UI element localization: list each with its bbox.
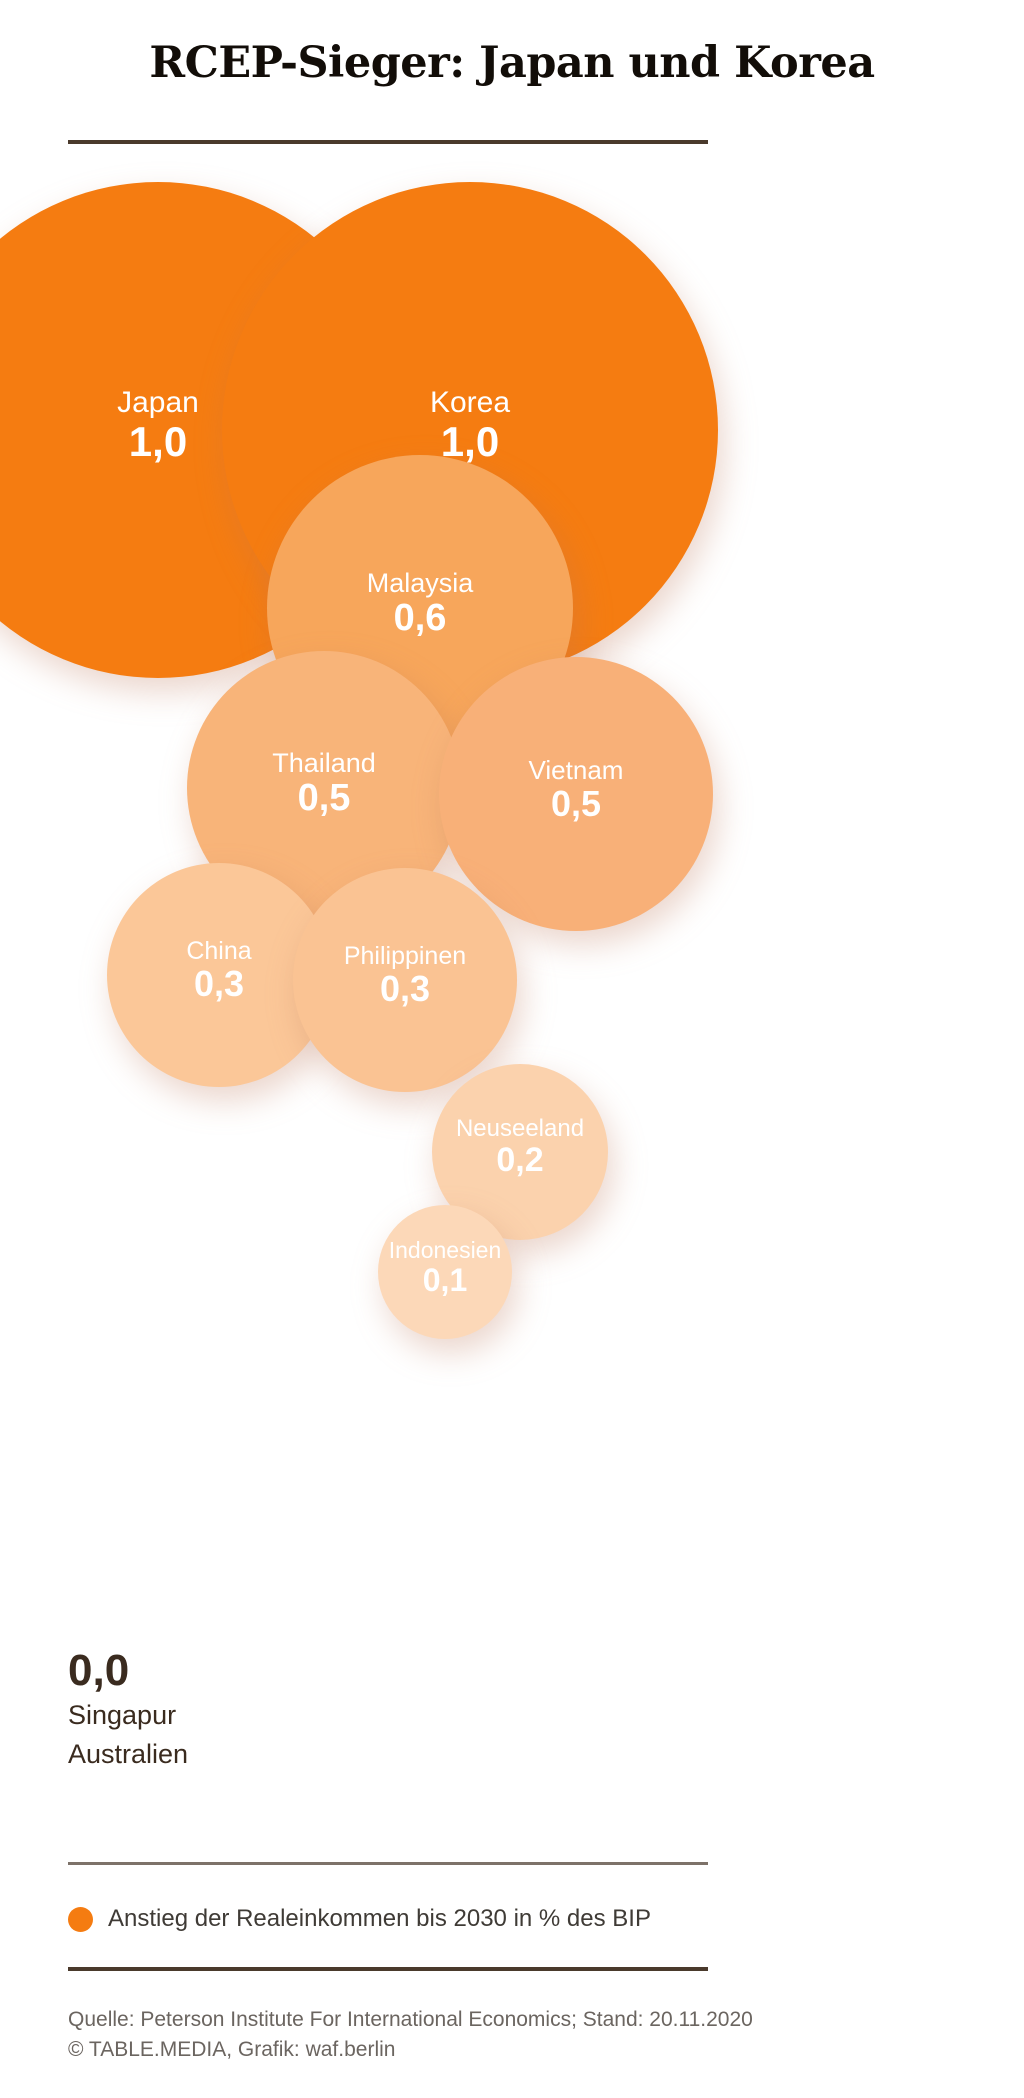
bubble-value-korea: 1,0: [270, 421, 670, 464]
zero-country-singapur: Singapur: [68, 1698, 188, 1733]
bubble-name-vietnam: Vietnam: [376, 757, 776, 784]
divider-legend: [68, 1862, 708, 1865]
bubble-value-neuseeland: 0,2: [320, 1143, 720, 1178]
bubble-name-indonesien: Indonesien: [245, 1239, 645, 1262]
divider-bottom: [68, 1967, 708, 1971]
zero-value: 0,0: [68, 1648, 188, 1694]
bubble-label-malaysia: Malaysia0,6: [220, 570, 620, 638]
zero-value-group: 0,0 Singapur Australien: [68, 1648, 188, 1771]
bubble-label-neuseeland: Neuseeland0,2: [320, 1117, 720, 1178]
footer-credit: © TABLE.MEDIA, Grafik: waf.berlin: [68, 2035, 753, 2065]
footer-source: Quelle: Peterson Institute For Internati…: [68, 2005, 753, 2035]
bubble-label-korea: Korea1,0: [270, 388, 670, 463]
bubble-value-vietnam: 0,5: [376, 786, 776, 823]
bubble-label-philippinen: Philippinen0,3: [205, 944, 605, 1008]
legend-label: Anstieg der Realeinkommen bis 2030 in % …: [108, 1905, 651, 1933]
bubble-name-philippinen: Philippinen: [205, 944, 605, 970]
zero-country-australien: Australien: [68, 1737, 188, 1772]
footer: Quelle: Peterson Institute For Internati…: [68, 2005, 753, 2065]
legend-dot-icon: [68, 1907, 93, 1932]
bubble-value-indonesien: 0,1: [245, 1264, 645, 1297]
bubble-value-malaysia: 0,6: [220, 599, 620, 638]
legend: Anstieg der Realeinkommen bis 2030 in % …: [68, 1905, 651, 1933]
bubble-name-korea: Korea: [270, 388, 670, 419]
bubble-chart: Japan1,0Korea1,0Malaysia0,6Thailand0,5Vi…: [0, 0, 1024, 1800]
bubble-name-neuseeland: Neuseeland: [320, 1117, 720, 1141]
bubble-label-indonesien: Indonesien0,1: [245, 1239, 645, 1297]
bubble-value-philippinen: 0,3: [205, 971, 605, 1008]
bubble-label-vietnam: Vietnam0,5: [376, 757, 776, 822]
bubble-name-malaysia: Malaysia: [220, 570, 620, 598]
